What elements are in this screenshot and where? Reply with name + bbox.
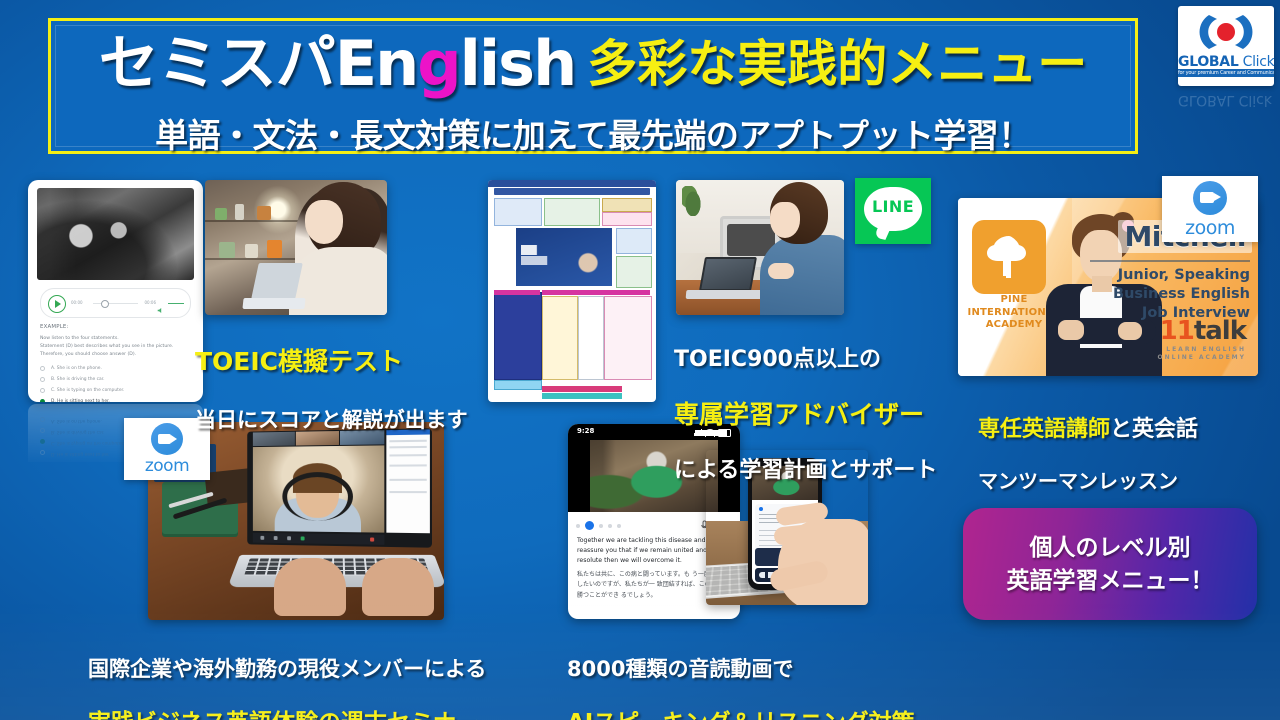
caption-line-2: マンツーマンレッスン [978,469,1206,493]
sheet-column [542,296,578,380]
brand-reflection-text: GLOBAL Click! [1178,92,1274,108]
status-time: 9:28 [577,427,594,435]
shelf-item [245,244,258,258]
quiz-photo [37,188,194,280]
level-menu-text: 個人のレベル別 英語学習メニュー！ [963,532,1257,597]
player-total-time: 00:06 [144,300,156,305]
title-english-pre: En [335,27,418,100]
mute-icon[interactable] [260,536,264,540]
speed-selector[interactable] [576,521,621,530]
title-semispa: セミスパ [99,29,335,99]
caption-line-2: AIスピーキング＆リスニング対策 [567,709,915,720]
study-plan-spreadsheet [488,180,656,402]
shelf-item [235,204,244,220]
laptop-screen [251,263,303,299]
player-progress-bar[interactable] [93,303,138,304]
title-subtagline: 多彩な実践的メニュー [587,35,1087,93]
line-badge-label: LINE [855,197,931,216]
laptop [686,259,758,301]
quiz-options-list[interactable]: A. She is on the phone. B. She is drivin… [40,363,191,402]
11talk-brand: 11talk LEARN ENGLISH ONLINE ACADEMY [1158,316,1246,362]
camera-glyph [1200,192,1214,203]
divider [1090,260,1250,262]
hand-left [274,558,346,616]
camera-glyph [158,434,171,444]
chat-line [389,491,426,493]
brand-talk: talk [1194,316,1246,346]
caption-seminar: 国際企業や海外勤務の現役メンバーによる 実践ビジネス英語体験の週末セミナー [88,630,486,720]
chat-line [389,479,426,481]
sheet-pane [602,198,652,212]
volume-icon[interactable] [157,299,164,306]
sheet-table-header [542,290,650,295]
sheet-pane [494,198,542,226]
laptop-screen [699,257,757,291]
zoom-badge[interactable]: zoom [1162,176,1258,242]
title-english-g: g [417,27,459,100]
plant [682,186,704,216]
speed-dot[interactable] [608,524,612,528]
caption-line-1-white: と英会話 [1110,417,1198,442]
speed-dot[interactable] [576,524,580,528]
wave-circle-icon [1195,11,1257,53]
caption-line-2: 実践ビジネス英語体験の週末セミナー [88,709,486,720]
caption-line-3: による学習計画とサポート [674,458,937,485]
laptop [241,263,307,313]
quiz-option[interactable]: A. She is on the phone. [40,363,191,374]
teacher-roles: Junior, Speaking Business English Job In… [1080,266,1250,323]
11talk-tagline: LEARN ENGLISH ONLINE ACADEMY [1158,346,1246,362]
sheet-pane [602,212,652,226]
brand-logo-reflection: GLOBAL Click! [1178,86,1274,112]
caption-toeic-mock-test: TOEIC模擬テスト 当日にスコアと解説が出ます [195,316,468,464]
brand-logo: GLOBAL Click! for your premium Career an… [1178,6,1274,86]
shelf-item [219,242,235,258]
11talk-logo-text: 11talk [1158,316,1246,346]
caption-ai-speaking: 8000種類の音読動画で AIスピーキング＆リスニング対策 [567,630,915,720]
caption-line-1: TOEIC900点以上の [674,347,937,374]
toeic-quiz-card[interactable]: 00:00 00:06 EXAMPLE: Now listen to the f… [28,180,203,402]
volume-slider[interactable] [168,303,184,304]
brand-11: 11 [1160,316,1194,346]
meeting-controls[interactable] [253,533,384,545]
globalclick-mark-icon [1195,11,1257,57]
quiz-option[interactable]: C. She is typing on the computer. [40,385,191,396]
zoom-badge-label: zoom [1162,217,1258,239]
laptop-base [242,298,305,309]
video-icon[interactable] [274,536,278,540]
line-badge[interactable]: LINE [855,178,931,244]
speed-dot[interactable] [599,524,603,528]
caption-line-1: 国際企業や海外勤務の現役メンバーによる [88,657,486,683]
brand-name-bold: GLOBAL [1178,54,1238,70]
zoom-camera-icon [1193,181,1227,215]
leave-icon[interactable] [370,537,374,541]
header-title-line: セミスパEnglish多彩な実践的メニュー [51,33,1135,95]
woman-studying-photo [205,180,387,315]
brand-tagline: for your premium Career and Communicatio… [1178,69,1274,77]
quiz-option[interactable]: B. She is driving the car. [40,374,191,385]
sheet-title-bar [494,188,650,195]
laptop-base [686,290,763,299]
shelf-item [257,206,271,220]
sheet-footer-bar [542,393,622,399]
zoom-camera-icon [151,423,183,455]
caption-line-1: TOEIC模擬テスト [195,347,468,378]
play-icon[interactable] [48,295,66,313]
sheet-footer-cell [494,380,542,390]
sheet-pane [544,198,600,226]
brand-name-rest: Click! [1238,54,1274,70]
person-face [305,200,343,244]
caption-line-1-yellow: 専任英語講師 [978,417,1110,442]
share-screen-icon[interactable] [301,536,305,540]
shelf-item [267,240,282,258]
speed-dot[interactable] [617,524,621,528]
title-english-post: lish [460,27,576,100]
headphones-icon [282,472,353,521]
player-current-time: 00:00 [71,300,83,305]
caption-advisor: TOEIC900点以上の 専属学習アドバイザー による学習計画とサポート [674,320,937,511]
teacher-hand [1118,322,1142,340]
speed-dot-active[interactable] [585,521,594,530]
header-subtitle: 単語・文法・長文対策に加えて最先端のアプトプット学習！ [51,109,1135,157]
caption-line-2: 専属学習アドバイザー [674,400,937,431]
chat-line [389,464,426,466]
hand-right [362,558,434,616]
sheet-column [604,296,652,380]
header-banner: セミスパEnglish多彩な実践的メニュー 単語・文法・長文対策に加えて最先端の… [48,18,1138,154]
participants-icon[interactable] [287,536,291,540]
sheet-toolbar [488,180,656,187]
quiz-option-selected[interactable]: D. He is sitting next to her. [40,396,191,402]
sheet-footer-bar [542,386,622,392]
audio-player[interactable]: 00:00 00:06 [40,288,191,318]
advisor-person [762,182,844,315]
typing-hands [274,552,434,616]
advisor-photo [676,180,844,315]
person-face [770,202,800,238]
sheet-sidebar-header [494,290,540,295]
sheet-column [578,296,604,380]
sheet-pane [616,228,652,254]
quiz-body-text: Now listen to the four statements. State… [40,335,191,359]
brand-name: GLOBAL Click! [1178,54,1274,70]
sheet-pane [616,256,652,288]
player-progress-knob[interactable] [101,300,109,308]
shelf-item [215,208,227,220]
example-label: EXAMPLE: [40,324,69,330]
person-hand [768,263,794,279]
caption-line-1: 専任英語講師と英会話 [978,417,1206,444]
tree-icon [983,230,1035,286]
sheet-banner-image [516,228,612,286]
pine-academy-logo [972,220,1046,294]
poster-canvas: セミスパEnglish多彩な実践的メニュー 単語・文法・長文対策に加えて最先端の… [0,0,1280,720]
caption-line-1: 8000種類の音読動画で [567,657,915,683]
caption-line-2: 当日にスコアと解説が出ます [195,408,468,434]
sheet-sidebar [494,292,542,380]
level-menu-badge[interactable]: 個人のレベル別 英語学習メニュー！ [963,508,1257,620]
